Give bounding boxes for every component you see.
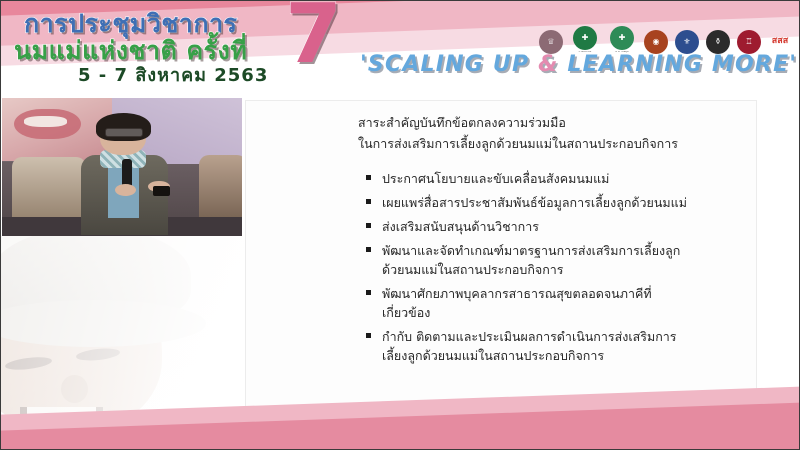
slide-body: สาระสำคัญบันทึกข้อตกลงความร่วมมือ ในการส… — [0, 96, 800, 450]
institute-seal-logo-icon: ⚱ — [706, 30, 730, 54]
conference-banner: การประชุมวิชาการ นมแม่แห่งชาติ ครั้งที่ … — [0, 0, 800, 96]
logo-item: ⚜ — [675, 30, 699, 54]
conference-date-range: 5 - 7 สิงหาคม 2563 — [78, 60, 268, 89]
logo-item: ✚สาธารณสุข — [607, 26, 637, 54]
royal-patronage-emblem-icon: ♕ — [539, 30, 563, 54]
logo-item: สสส — [768, 30, 792, 54]
speaker-presentation-photo — [2, 98, 242, 236]
department-of-health-logo-icon: ✚ — [610, 26, 634, 50]
content-bullet-list: ประกาศนโยบายและขับเคลื่อนสังคมนมแม่ เผยแ… — [366, 169, 756, 370]
logo-item: ⚱ — [706, 30, 730, 54]
tagline-part2: LEARNING MORE' — [559, 52, 798, 77]
list-item: พัฒนาศักยภาพบุคลากรสาธารณสุขตลอดจนภาคีที… — [366, 284, 756, 322]
list-item: เผยแพร่สื่อสารประชาสัมพันธ์ข้อมูลการเลี้… — [366, 193, 756, 212]
content-lead-text: สาระสำคัญบันทึกข้อตกลงความร่วมมือ ในการส… — [358, 113, 678, 154]
presentation-slide-screenshot: การประชุมวิชาการ นมแม่แห่งชาติ ครั้งที่ … — [0, 0, 800, 450]
list-item: กำกับ ติดตามและประเมินผลการดำเนินการส่งเ… — [366, 327, 756, 365]
conference-tagline: 'SCALING UP & LEARNING MORE' — [360, 52, 797, 77]
logo-item: ♕ — [539, 30, 563, 54]
conference-edition-number: 7 — [285, 0, 342, 76]
thaihealth-sss-logo-icon: สสส — [768, 30, 792, 54]
ministry-of-public-health-logo-icon: ✚ — [573, 26, 597, 50]
royal-college-logo-icon: ♖ — [737, 30, 761, 54]
logo-item: ✚กรมอนามัย — [570, 26, 600, 54]
partner-logo-row: ♕ ✚กรมอนามัย ✚สาธารณสุข ◉ ⚜ ⚱ ♖ สสส — [539, 26, 792, 54]
university-emblem-logo-icon: ⚜ — [675, 30, 699, 54]
list-item: ส่งเสริมสนับสนุนด้านวิชาการ — [366, 217, 756, 236]
logo-item: ♖ — [737, 30, 761, 54]
tagline-ampersand: & — [538, 52, 558, 77]
logo-item: ◉ — [644, 30, 668, 54]
tagline-part1: 'SCALING UP — [360, 52, 538, 77]
list-item: ประกาศนโยบายและขับเคลื่อนสังคมนมแม่ — [366, 169, 756, 188]
list-item: พัฒนาและจัดทำเกณฑ์มาตรฐานการส่งเสริมการเ… — [366, 241, 756, 279]
thai-breastfeeding-center-logo-icon: ◉ — [644, 30, 668, 54]
